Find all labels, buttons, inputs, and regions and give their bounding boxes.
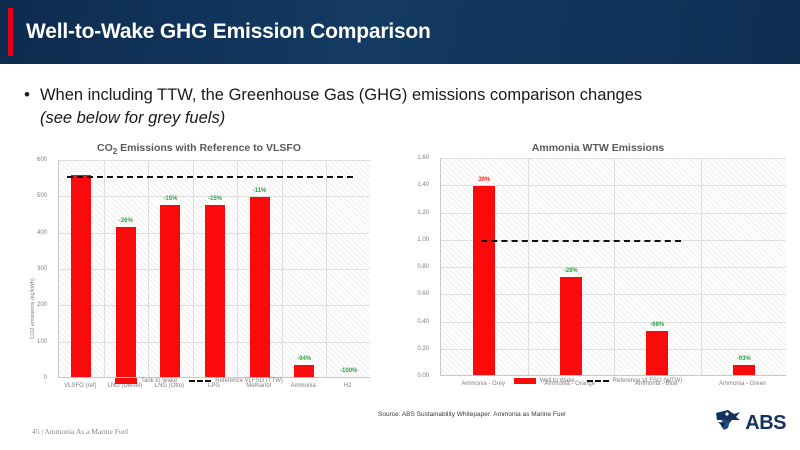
footer-separator: |: [41, 427, 43, 436]
bar[interactable]: [646, 331, 668, 375]
abs-logo: ABS: [714, 408, 786, 439]
y-axis-tick-label: 500: [37, 193, 47, 199]
chart-title-prefix: CO: [97, 142, 113, 154]
bullet-marker: •: [24, 84, 30, 106]
y-axis-tick-label: 1.00: [417, 237, 429, 243]
category-gridline: [104, 160, 105, 377]
legend-dashed-line-swatch: [587, 380, 609, 382]
bar[interactable]: [160, 205, 180, 377]
footer-page-number: 45: [32, 427, 40, 436]
bar[interactable]: [294, 365, 314, 377]
bar-value-label: -28%: [564, 268, 578, 274]
category-gridline: [614, 158, 615, 375]
legend-label: Well to Wake: [540, 378, 575, 384]
y-axis-tick-label: 1.20: [417, 210, 429, 216]
bullet-paragraph: • When including TTW, the Greenhouse Gas…: [20, 84, 780, 130]
bar-value-label: -94%: [297, 356, 311, 362]
gridline: [59, 160, 370, 161]
y-axis-ticks-co2: 0100200300400500600: [24, 160, 50, 378]
category-gridline: [701, 158, 702, 375]
y-axis-tick-label: 0.60: [417, 291, 429, 297]
ammonia-wtw-chart: Ammonia WTW Emissions 0.000.200.400.600.…: [406, 142, 790, 392]
legend-dashed-line-swatch: [189, 380, 211, 382]
legend-ammonia: Well to WakeReference VLFSO (WTW): [406, 378, 790, 384]
legend-co2: Tank to WakeReference VLFSO (TTW): [24, 378, 374, 384]
bar-value-label: -93%: [737, 356, 751, 362]
category-gridline: [193, 160, 194, 377]
y-axis-tick-label: 300: [37, 266, 47, 272]
legend-item[interactable]: Reference VLFSO (TTW): [189, 378, 283, 384]
page-title: Well-to-Wake GHG Emission Comparison: [26, 20, 431, 44]
category-gridline: [326, 160, 327, 377]
plot-area-co2: -26%-15%-15%-11%-94%-100%: [58, 160, 370, 378]
y-axis-tick-label: 200: [37, 302, 47, 308]
y-axis-tick-label: 0.40: [417, 319, 429, 325]
bar-value-label: -26%: [119, 218, 133, 224]
y-axis-tick-label: 100: [37, 339, 47, 345]
legend-bar-swatch: [115, 378, 137, 384]
bar-value-label: -68%: [650, 322, 664, 328]
legend-item[interactable]: Tank to Wake: [115, 378, 177, 384]
y-axis-tick-label: 0.20: [417, 346, 429, 352]
eagle-icon: [714, 408, 744, 439]
legend-item[interactable]: Well to Wake: [514, 378, 575, 384]
y-axis-tick-label: 0.80: [417, 264, 429, 270]
slide-header: Well-to-Wake GHG Emission Comparison: [0, 0, 800, 64]
category-gridline: [282, 160, 283, 377]
bar[interactable]: [473, 186, 495, 375]
legend-item[interactable]: Reference VLFSO (WTW): [587, 378, 683, 384]
bar[interactable]: [71, 175, 91, 377]
legend-bar-swatch: [514, 378, 536, 384]
bar[interactable]: [205, 205, 225, 377]
bar-value-label: -11%: [253, 188, 267, 194]
chart-title-suffix: Emissions with Reference to VLSFO: [117, 142, 301, 154]
bar-value-label: -15%: [208, 196, 222, 202]
y-axis-tick-label: 600: [37, 157, 47, 163]
legend-label: Tank to Wake: [141, 378, 177, 384]
footer-text: 45 | Ammonia As a Marine Fuel: [32, 427, 128, 436]
bar[interactable]: [116, 227, 136, 377]
bar[interactable]: [560, 277, 582, 375]
y-axis-tick-label: 1.60: [417, 155, 429, 161]
bar-value-label: 39%: [478, 177, 490, 183]
legend-label: Reference VLFSO (TTW): [215, 378, 283, 384]
bullet-body: When including TTW, the Greenhouse Gas (…: [40, 84, 642, 130]
y-axis-tick-label: 400: [37, 230, 47, 236]
co2-emissions-chart: CO2 Emissions with Reference to VLSFO CO…: [24, 142, 374, 392]
bar[interactable]: [250, 197, 270, 377]
reference-line: [481, 240, 681, 242]
bar[interactable]: [733, 365, 755, 375]
footer-deck-title: Ammonia As a Marine Fuel: [44, 427, 128, 436]
bar-value-label: -100%: [340, 368, 357, 374]
bullet-line-2: (see below for grey fuels): [40, 109, 225, 127]
abs-logo-text: ABS: [745, 412, 786, 435]
plot-area-ammonia: 39%-28%-68%-93%: [440, 158, 786, 376]
source-note: Source: ABS Sustainability Whitepaper: A…: [378, 411, 566, 418]
legend-label: Reference VLFSO (WTW): [613, 378, 683, 384]
y-axis-ticks-ammonia: 0.000.200.400.600.801.001.201.401.60: [406, 158, 432, 376]
header-accent-bar: [8, 8, 13, 56]
chart-title-ammonia: Ammonia WTW Emissions: [406, 142, 790, 154]
reference-line: [67, 176, 353, 178]
bar-value-label: -15%: [163, 196, 177, 202]
bullet-line-1: When including TTW, the Greenhouse Gas (…: [40, 86, 642, 104]
category-gridline: [237, 160, 238, 377]
category-gridline: [528, 158, 529, 375]
chart-title-co2: CO2 Emissions with Reference to VLSFO: [24, 142, 374, 156]
category-gridline: [148, 160, 149, 377]
y-axis-tick-label: 1.40: [417, 182, 429, 188]
